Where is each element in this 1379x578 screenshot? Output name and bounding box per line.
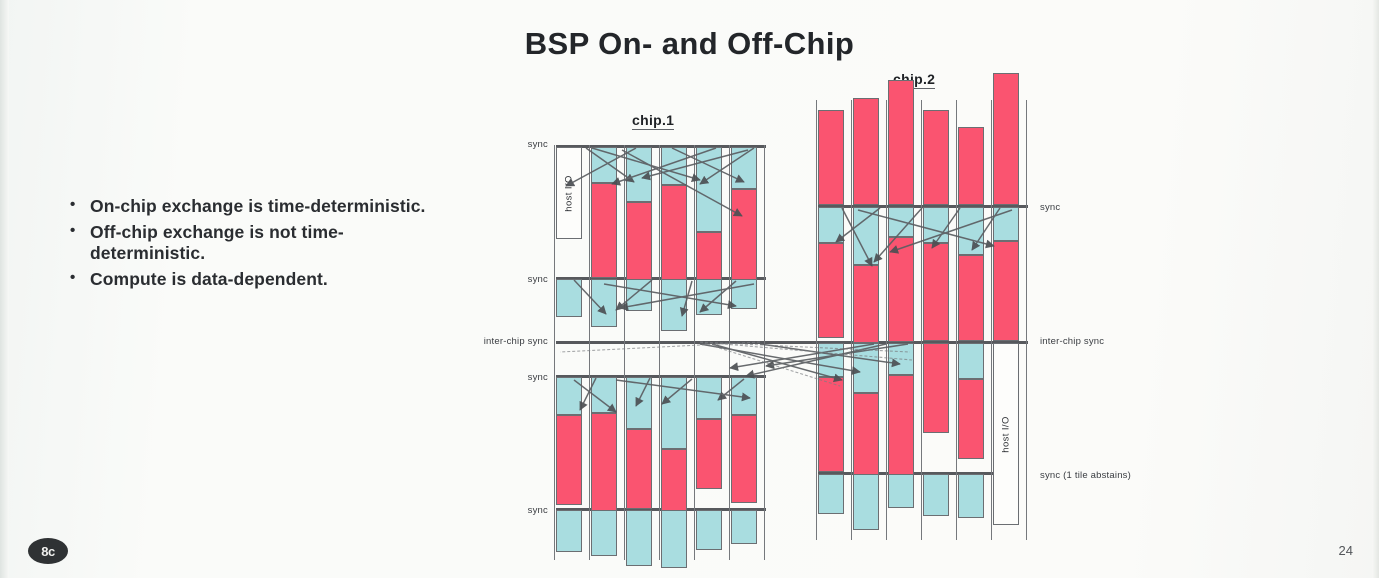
chip2-block_b-compute-0 bbox=[818, 243, 844, 338]
chip2-block_d-exchange-4 bbox=[958, 474, 984, 518]
chip2-block_c-compute-4 bbox=[958, 379, 984, 459]
chip1-guide-5 bbox=[729, 145, 730, 560]
bsp-timing-diagram: chip.1chip.2syncsyncinter-chip syncsyncs… bbox=[0, 0, 1379, 578]
chip1-block_b-exchange-1 bbox=[591, 279, 617, 327]
chip1-block_c-exchange-5 bbox=[731, 377, 757, 415]
chip1-block_a-exchange-3 bbox=[661, 147, 687, 185]
chip1-guide-6 bbox=[764, 145, 765, 560]
left-label-inter-chip-sync: inter-chip sync bbox=[450, 336, 548, 347]
host-io-label: host I/O bbox=[564, 175, 575, 211]
chip1-block_d-exchange-1 bbox=[591, 510, 617, 556]
chip1-block_a-exchange-2 bbox=[626, 147, 652, 202]
left-label-sync: sync bbox=[518, 372, 548, 383]
chip2-block_b-exchange-5 bbox=[993, 207, 1019, 241]
chip1-block_a-exchange-5 bbox=[731, 147, 757, 189]
chip1-block_c-compute-1 bbox=[591, 413, 617, 525]
chip1-block_b-exchange-5 bbox=[731, 279, 757, 309]
chip2-block_a-compute-0 bbox=[818, 110, 844, 205]
chip2-guide-2 bbox=[886, 100, 887, 540]
chip2-block_d-exchange-1 bbox=[853, 474, 879, 530]
chip1-block_b-exchange-0 bbox=[556, 279, 582, 317]
page-number: 24 bbox=[1339, 543, 1353, 558]
left-label-sync: sync bbox=[518, 505, 548, 516]
chip1-guide-0 bbox=[554, 145, 555, 560]
chip2-block_b-exchange-1 bbox=[853, 207, 879, 265]
slide-canvas: BSP On- and Off-Chip •On-chip exchange i… bbox=[0, 0, 1379, 578]
chip1-block_c-exchange-2 bbox=[626, 377, 652, 429]
chip1-block_c-compute-0 bbox=[556, 415, 582, 505]
chip2-block_b-compute-5 bbox=[993, 241, 1019, 341]
chip2-block_c-exchange-1 bbox=[853, 343, 879, 393]
chip1-block_a-exchange-1 bbox=[591, 147, 617, 183]
chip2-block_c-exchange-0 bbox=[818, 343, 844, 377]
chip2-guide-5 bbox=[991, 100, 992, 540]
chip2-guide-1 bbox=[851, 100, 852, 540]
chip1-block_a-compute-5 bbox=[731, 189, 757, 287]
chip1-guide-1 bbox=[589, 145, 590, 560]
chip1-guide-4 bbox=[694, 145, 695, 560]
chip1-block_b-exchange-3 bbox=[661, 279, 687, 331]
chip1-block_d-exchange-2 bbox=[626, 510, 652, 566]
chip2-block_c-compute-3 bbox=[923, 343, 949, 433]
chip1-block_b-exchange-4 bbox=[696, 279, 722, 315]
chip1-caption: chip.1 bbox=[632, 112, 674, 130]
right-label-0: sync bbox=[1040, 202, 1060, 213]
chip2-block_a-compute-5 bbox=[993, 73, 1019, 205]
chip2-block_b-compute-2 bbox=[888, 237, 914, 342]
chip2-guide-4 bbox=[956, 100, 957, 540]
chip2-block_b-exchange-4 bbox=[958, 207, 984, 255]
chip1-block_c-compute-2 bbox=[626, 429, 652, 509]
chip2-block_c-exchange-4 bbox=[958, 343, 984, 379]
chip2-block_c-compute-0 bbox=[818, 377, 844, 472]
chip1-block_a-exchange-4 bbox=[696, 147, 722, 232]
chip2-block_b-compute-1 bbox=[853, 265, 879, 343]
left-label-sync: sync bbox=[518, 139, 548, 150]
right-label-1: inter-chip sync bbox=[1040, 336, 1104, 347]
chip2-block_c-exchange-2 bbox=[888, 343, 914, 375]
chip2-block_b-exchange-2 bbox=[888, 207, 914, 237]
left-label-sync: sync bbox=[518, 274, 548, 285]
chip1-block_a-compute-1 bbox=[591, 183, 617, 278]
chip2-block_a-compute-2 bbox=[888, 80, 914, 205]
host-io-label: host I/O bbox=[1001, 416, 1012, 452]
right-label-2: sync (1 tile abstains) bbox=[1040, 470, 1131, 481]
brand-logo: 8c bbox=[28, 538, 68, 564]
chip2-block_c-compute-2 bbox=[888, 375, 914, 485]
chip1-block_c-compute-4 bbox=[696, 419, 722, 489]
chip2-block_a-compute-3 bbox=[923, 110, 949, 205]
chip2-guide-3 bbox=[921, 100, 922, 540]
chip1-block_d-exchange-4 bbox=[696, 510, 722, 550]
chip2-block_a-compute-1 bbox=[853, 98, 879, 205]
chip1-block_c-exchange-0 bbox=[556, 377, 582, 415]
chip2-block_c-hostio-5: host I/O bbox=[993, 343, 1019, 525]
chip2-guide-6 bbox=[1026, 100, 1027, 540]
chip2-block_d-exchange-2 bbox=[888, 474, 914, 508]
chip1-block_d-exchange-0 bbox=[556, 510, 582, 552]
chip2-block_b-exchange-3 bbox=[923, 207, 949, 243]
chip1-guide-2 bbox=[624, 145, 625, 560]
chip2-block_b-compute-4 bbox=[958, 255, 984, 341]
chip2-block_b-compute-3 bbox=[923, 243, 949, 341]
chip1-block_d-exchange-5 bbox=[731, 510, 757, 544]
chip1-guide-3 bbox=[659, 145, 660, 560]
chip1-block_c-exchange-4 bbox=[696, 377, 722, 419]
chip2-guide-0 bbox=[816, 100, 817, 540]
chip1-block_c-exchange-3 bbox=[661, 377, 687, 449]
chip1-block_a-hostio-0: host I/O bbox=[556, 147, 582, 239]
chip2-block_d-exchange-3 bbox=[923, 474, 949, 516]
chip1-block_c-compute-5 bbox=[731, 415, 757, 503]
chip1-block_d-exchange-3 bbox=[661, 510, 687, 568]
chip2-block_a-compute-4 bbox=[958, 127, 984, 205]
chip1-block_b-exchange-2 bbox=[626, 279, 652, 311]
chip1-block_c-exchange-1 bbox=[591, 377, 617, 413]
chip2-block_b-exchange-0 bbox=[818, 207, 844, 243]
chip2-block_d-exchange-0 bbox=[818, 474, 844, 514]
